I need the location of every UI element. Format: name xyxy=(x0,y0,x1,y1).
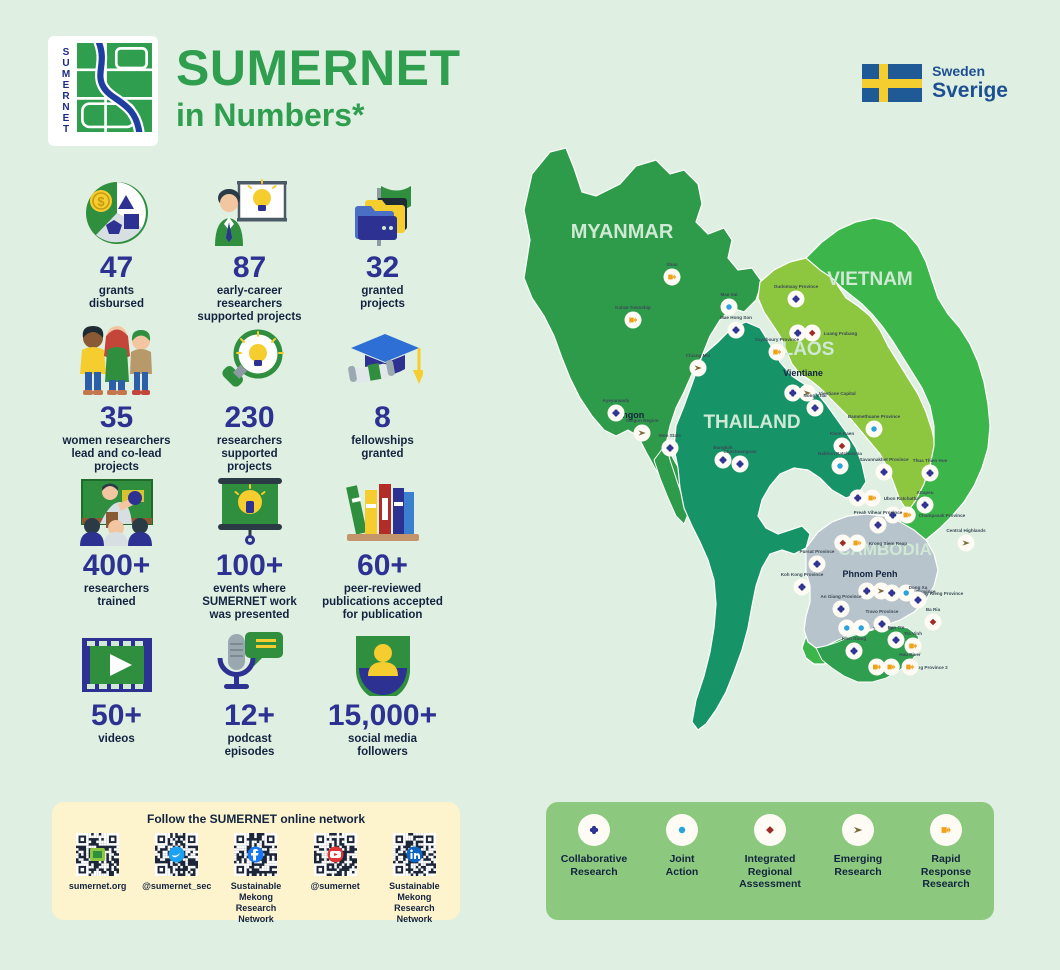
social-panel-title: Follow the SUMERNET online network xyxy=(58,812,454,826)
legend-item: RapidResponseResearch xyxy=(904,814,988,891)
stat-number: 35 xyxy=(52,401,181,435)
map-marker-label: An Giang Province xyxy=(820,594,862,599)
map-marker-label: Champasak Province xyxy=(919,513,966,518)
social-link-label: SustainableMekong ResearchNetwork xyxy=(218,881,294,925)
stat-number: 100+ xyxy=(185,549,314,583)
clover-icon xyxy=(578,814,610,846)
diamond-icon xyxy=(754,814,786,846)
legend-item: CollaborativeResearch xyxy=(552,814,636,878)
legend-items-list: CollaborativeResearchJointActionIntegrat… xyxy=(550,814,990,891)
map-marker-label: Krong Siem Reap xyxy=(869,541,907,546)
map-marker-label: Thua Thien Hue xyxy=(913,458,948,463)
sumernet-logo: SUMERNET xyxy=(48,36,158,146)
stat-label: women researcherslead and co-leadproject… xyxy=(52,435,181,474)
map-marker[interactable]: Tra Vinh xyxy=(904,631,922,655)
map-country-label: MYANMAR xyxy=(571,221,674,243)
map-marker-label: Ayeyarwady xyxy=(603,398,630,403)
film-play-icon xyxy=(52,624,181,696)
stat-card-social-follower-badge: 15,000+social mediafollowers xyxy=(316,624,449,759)
map-marker-label: Khon Kaen xyxy=(830,431,854,436)
map-marker-label: Kien Giang xyxy=(842,636,866,641)
stat-number: 230 xyxy=(185,401,314,435)
stat-label: peer-reviewedpublications acceptedfor pu… xyxy=(318,583,447,622)
fast-forward-icon xyxy=(930,814,962,846)
logo-wordmark: SUMERNET xyxy=(55,47,77,135)
map-marker-label: Nakhon Ratchasima xyxy=(818,451,862,456)
qr-website-icon[interactable] xyxy=(76,833,119,876)
map-marker-label: Ba Ria xyxy=(926,607,941,612)
pie-chart-money-icon: $ xyxy=(52,176,181,248)
stat-row: 35women researcherslead and co-leadproje… xyxy=(50,326,450,474)
circle-dot-icon xyxy=(666,814,698,846)
legend-label: EmergingResearch xyxy=(816,853,900,878)
stat-label: podcastepisodes xyxy=(185,733,314,759)
stat-label: grantsdisbursed xyxy=(52,285,181,311)
map-marker-label: Attapeu xyxy=(916,490,933,495)
map-marker-label: Luang Prabang xyxy=(824,331,858,336)
qr-youtube-icon[interactable] xyxy=(314,833,357,876)
map-marker-label: Bammethuane Province xyxy=(848,414,901,419)
map-marker-label: Chiang Mai xyxy=(686,353,711,358)
legend-label: IntegratedRegionalAssessment xyxy=(728,853,812,891)
stat-number: 60+ xyxy=(318,549,447,583)
presenter-lightbulb-icon xyxy=(185,176,314,248)
map-country-label: VIETNAM xyxy=(827,269,913,290)
stat-number: 15,000+ xyxy=(318,699,447,733)
stat-label: early-careerresearcherssupported project… xyxy=(185,285,314,324)
logo-artwork-icon xyxy=(77,43,152,132)
page-subtitle: in Numbers* xyxy=(176,96,461,134)
sweden-label-en: Sweden xyxy=(932,64,1008,79)
legend-item: EmergingResearch xyxy=(816,814,900,878)
svg-text:$: $ xyxy=(97,194,105,209)
legend-item: IntegratedRegionalAssessment xyxy=(728,814,812,891)
magnifier-lightbulb-icon xyxy=(185,326,314,398)
stat-card-magnifier-lightbulb: 230researcherssupportedprojects xyxy=(183,326,316,474)
map-marker-label: Dong Xa xyxy=(909,585,928,590)
arrowhead-icon xyxy=(842,814,874,846)
stat-card-classroom-training: 400+researcherstrained xyxy=(50,474,183,624)
map-marker-label: Travo Province xyxy=(866,609,899,614)
stat-number: 12+ xyxy=(185,699,314,733)
three-women-icon xyxy=(52,326,181,398)
map-marker[interactable]: Attapeu xyxy=(916,490,933,514)
stat-label: researcherstrained xyxy=(52,583,181,609)
map-marker-label: Central Highlands xyxy=(946,528,986,533)
social-link-label: SustainableMekong ResearchNetwork xyxy=(376,881,452,925)
social-follower-badge-icon xyxy=(318,624,447,696)
stat-number: 32 xyxy=(318,251,447,285)
stat-number: 87 xyxy=(185,251,314,285)
stat-card-folders-flag: 32grantedprojects xyxy=(316,176,449,326)
map-marker-label: Mon State xyxy=(659,433,681,438)
stat-label: videos xyxy=(52,733,181,746)
social-link-item[interactable]: SustainableMekong ResearchNetwork xyxy=(218,833,294,925)
qr-facebook-icon[interactable] xyxy=(234,833,277,876)
stat-label: grantedprojects xyxy=(318,285,447,311)
stat-card-three-women: 35women researcherslead and co-leadproje… xyxy=(50,326,183,474)
stat-card-presenter-lightbulb: 87early-careerresearcherssupported proje… xyxy=(183,176,316,326)
social-links-list: sumernet.org @sumernet_sec SustainableMe… xyxy=(58,833,454,925)
page-title: SUMERNET xyxy=(176,42,461,94)
map-marker-label: Ubon Ratchathani xyxy=(884,496,923,501)
projector-screen-icon xyxy=(185,474,314,546)
legend-label: RapidResponseResearch xyxy=(904,853,988,891)
infographic-page: SUMERNET SUMERNET in Numbers* xyxy=(0,0,1060,970)
map-marker-label: Koh Kong Province xyxy=(781,572,824,577)
map-marker-label: Yangon Region xyxy=(625,418,659,423)
stat-number: 47 xyxy=(52,251,181,285)
mekong-region-map: MYANMARVIETNAMLAOSTHAILANDCAMBODIA Yango… xyxy=(470,130,1040,780)
social-link-label: @sumernet_sec xyxy=(139,881,215,892)
map-marker-label: Pursat Province xyxy=(800,549,835,554)
legend-label: CollaborativeResearch xyxy=(552,853,636,878)
map-country-label: LAOS xyxy=(782,339,835,360)
map-marker-label: Shan xyxy=(666,262,677,267)
social-network-panel: Follow the SUMERNET online network sumer… xyxy=(52,802,460,920)
folders-flag-icon xyxy=(318,176,447,248)
map-marker-label: Preah Vihear Province xyxy=(854,510,903,515)
social-link-item[interactable]: @sumernet_sec xyxy=(139,833,215,892)
map-marker-label: Sayaboury Province xyxy=(755,337,800,342)
stat-card-projector-screen: 100+events whereSUMERNET workwas present… xyxy=(183,474,316,624)
statistics-grid: $ 47grantsdisbursed 87early-careerresear… xyxy=(50,176,450,759)
stat-row: 400+researcherstrained 100+events whereS… xyxy=(50,474,450,624)
social-link-item[interactable]: sumernet.org xyxy=(60,833,136,892)
sweden-sverige-logo: Sweden Sverige xyxy=(862,64,1008,102)
stat-number: 50+ xyxy=(52,699,181,733)
stat-number: 8 xyxy=(318,401,447,435)
stat-row: 50+videos 12+podcastepisodes 15,000+soci… xyxy=(50,624,450,759)
map-marker-label: Ben Tre xyxy=(888,625,905,630)
social-link-item[interactable]: SustainableMekong ResearchNetwork xyxy=(376,833,452,925)
map-marker-label: Kalaw Township xyxy=(615,305,651,310)
sweden-flag-icon xyxy=(862,64,922,102)
legend-item: JointAction xyxy=(640,814,724,878)
map-marker-label: Chachoengsao xyxy=(724,449,757,454)
graduation-cap-diploma-icon xyxy=(318,326,447,398)
classroom-training-icon xyxy=(52,474,181,546)
stat-label: fellowshipsgranted xyxy=(318,435,447,461)
stat-row: $ 47grantsdisbursed 87early-careerresear… xyxy=(50,176,450,326)
map-marker-label: Hau River xyxy=(899,652,921,657)
map-country-label: THAILAND xyxy=(703,412,800,433)
stat-label: researcherssupportedprojects xyxy=(185,435,314,474)
qr-linkedin-icon[interactable] xyxy=(393,833,436,876)
stat-card-graduation-cap-diploma: 8fellowshipsgranted xyxy=(316,326,449,474)
map-marker[interactable]: Ben Tre xyxy=(888,625,905,649)
map-city-label: Phnom Penh xyxy=(842,569,897,579)
map-marker[interactable]: Mae Sai xyxy=(720,292,737,316)
bookshelf-icon xyxy=(318,474,447,546)
stat-card-bookshelf: 60+peer-reviewedpublications acceptedfor… xyxy=(316,474,449,624)
map-marker-label: Mae Hong Son xyxy=(720,315,752,320)
map-marker-label: Mae Sai xyxy=(720,292,737,297)
map-marker-label: Tra Vinh xyxy=(904,631,922,636)
map-marker-label: Oudomxay Province xyxy=(774,284,819,289)
legend-label: JointAction xyxy=(640,853,724,878)
stat-card-pie-chart-money: $ 47grantsdisbursed xyxy=(50,176,183,326)
stat-number: 400+ xyxy=(52,549,181,583)
stat-card-microphone-chat: 12+podcastepisodes xyxy=(183,624,316,759)
sweden-label-sv: Sverige xyxy=(932,80,1008,102)
map-legend-panel: CollaborativeResearchJointActionIntegrat… xyxy=(546,802,994,920)
map-marker[interactable]: Ba Ria xyxy=(925,607,942,631)
map-marker-label: Savannakhet Province xyxy=(859,457,908,462)
microphone-chat-icon xyxy=(185,624,314,696)
map-city-label: Vientiane xyxy=(783,368,823,378)
stat-label: social mediafollowers xyxy=(318,733,447,759)
qr-twitter-icon[interactable] xyxy=(155,833,198,876)
header: SUMERNET SUMERNET in Numbers* xyxy=(48,36,461,146)
social-link-item[interactable]: @sumernet xyxy=(297,833,373,892)
stat-label: events whereSUMERNET workwas presented xyxy=(185,583,314,622)
social-link-label: sumernet.org xyxy=(60,881,136,892)
map-marker-label: Nong Khai xyxy=(804,393,827,398)
stat-card-film-play: 50+videos xyxy=(50,624,183,759)
social-link-label: @sumernet xyxy=(297,881,373,892)
